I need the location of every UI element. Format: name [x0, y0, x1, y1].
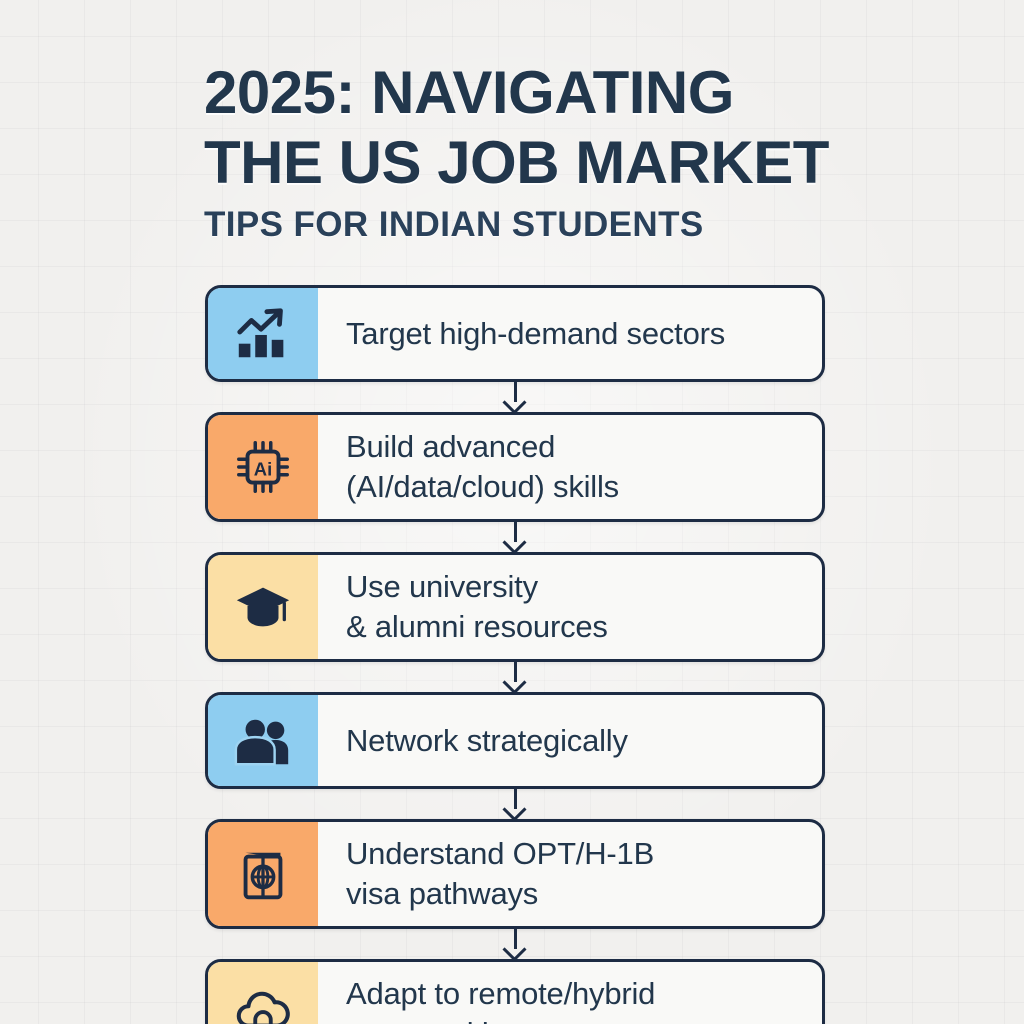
- title-line-2: THE US JOB MARKET: [204, 128, 864, 198]
- graduation-cap-icon: [232, 576, 294, 638]
- cloud-laptop-icon: [232, 983, 294, 1024]
- step-icon-pane: [208, 288, 318, 379]
- step-icon-pane: [208, 962, 318, 1024]
- people-icon: [232, 710, 294, 772]
- step-label: Network strategically: [318, 695, 822, 786]
- ai-chip-icon: Ai: [232, 436, 294, 498]
- step-card[interactable]: Understand OPT/H-1B visa pathways: [205, 819, 825, 929]
- title-line-1: 2025: NAVIGATING: [204, 58, 864, 128]
- connector-arrowhead-icon: [502, 530, 526, 554]
- connector-arrowhead-icon: [502, 937, 526, 961]
- step-label: Use university & alumni resources: [318, 555, 822, 659]
- step-label: Adapt to remote/hybrid opportunities: [318, 962, 822, 1024]
- svg-text:Ai: Ai: [254, 459, 272, 480]
- step-icon-pane: [208, 822, 318, 926]
- infographic-page: 2025: NAVIGATING THE US JOB MARKET TIPS …: [0, 0, 1024, 1024]
- step-card[interactable]: Use university & alumni resources: [205, 552, 825, 662]
- flow-connector-arrow: [205, 929, 825, 959]
- connector-arrowhead-icon: [502, 390, 526, 414]
- step-icon-pane: Ai: [208, 415, 318, 519]
- step-icon-pane: [208, 555, 318, 659]
- flow-connector-arrow: [205, 382, 825, 412]
- flow-connector-arrow: [205, 662, 825, 692]
- step-label: Target high-demand sectors: [318, 288, 822, 379]
- step-label: Build advanced (AI/data/cloud) skills: [318, 415, 822, 519]
- flow-connector-arrow: [205, 522, 825, 552]
- step-card[interactable]: Network strategically: [205, 692, 825, 789]
- page-subtitle: TIPS FOR INDIAN STUDENTS: [204, 204, 864, 246]
- step-card[interactable]: AiBuild advanced (AI/data/cloud) skills: [205, 412, 825, 522]
- step-icon-pane: [208, 695, 318, 786]
- step-card[interactable]: Adapt to remote/hybrid opportunities: [205, 959, 825, 1024]
- passport-globe-icon: [232, 843, 294, 905]
- header-block: 2025: NAVIGATING THE US JOB MARKET TIPS …: [204, 58, 864, 246]
- step-card[interactable]: Target high-demand sectors: [205, 285, 825, 382]
- step-label: Understand OPT/H-1B visa pathways: [318, 822, 822, 926]
- flow-connector-arrow: [205, 789, 825, 819]
- growth-chart-icon: [232, 303, 294, 365]
- connector-arrowhead-icon: [502, 797, 526, 821]
- connector-arrowhead-icon: [502, 670, 526, 694]
- steps-flow-list: Target high-demand sectorsAiBuild advanc…: [205, 285, 825, 1024]
